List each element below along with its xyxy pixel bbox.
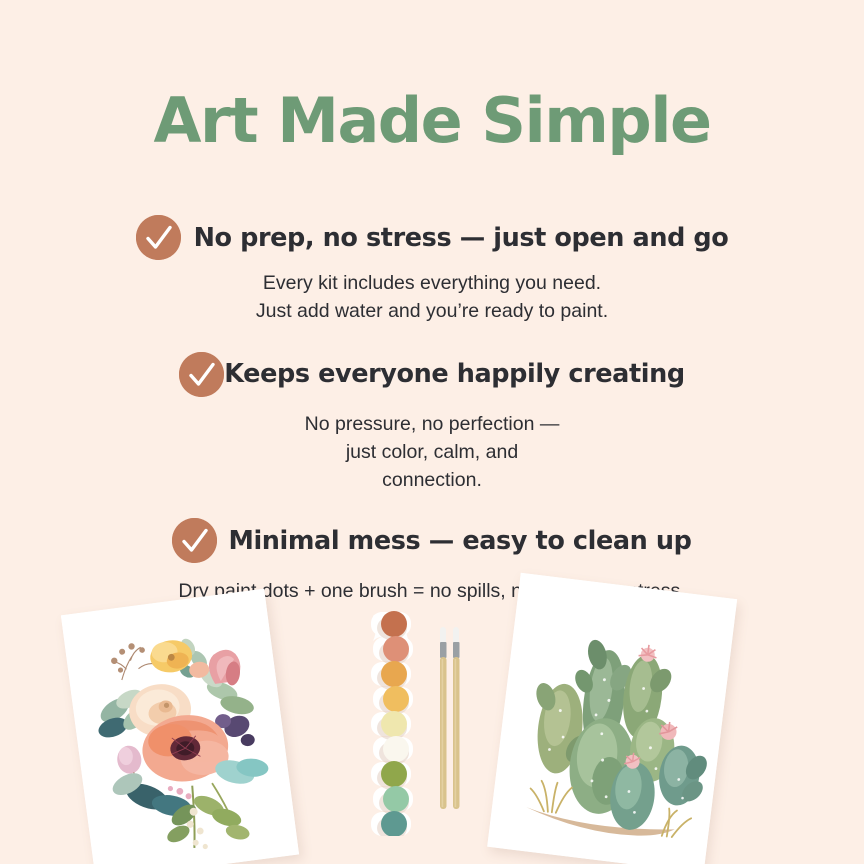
paint-brush bbox=[440, 627, 447, 809]
feature-description-line: Every kit includes everything you need. bbox=[0, 269, 864, 297]
feature-title: Keeps everyone happily creating bbox=[224, 359, 684, 389]
paint-dot bbox=[381, 611, 407, 637]
feature-title: No prep, no stress — just open and go bbox=[194, 223, 729, 253]
check-circle-icon bbox=[172, 518, 217, 563]
check-circle-icon bbox=[136, 215, 181, 260]
watercolor-cactus-card bbox=[487, 573, 737, 864]
product-imagery bbox=[0, 576, 864, 864]
paint-dot bbox=[383, 736, 409, 762]
page-title: Art Made Simple bbox=[0, 90, 864, 152]
paint-dot bbox=[381, 811, 407, 836]
feature-list: No prep, no stress — just open and go Ev… bbox=[0, 215, 864, 606]
feature-description-line: Just add water and you’re ready to paint… bbox=[0, 297, 864, 325]
feature-item: Keeps everyone happily creating No press… bbox=[0, 352, 864, 495]
watercolor-floral-bouquet-card bbox=[61, 589, 299, 864]
paint-dot bbox=[381, 761, 407, 787]
paint-dot bbox=[381, 661, 407, 687]
paint-dot bbox=[383, 636, 409, 662]
paint-dot-strip bbox=[368, 608, 422, 836]
feature-heading-row: No prep, no stress — just open and go bbox=[0, 215, 864, 260]
check-circle-icon bbox=[179, 352, 224, 397]
paint-brush bbox=[453, 627, 460, 809]
feature-item: No prep, no stress — just open and go Ev… bbox=[0, 215, 864, 326]
feature-description-line: No pressure, no perfection — bbox=[0, 410, 864, 438]
paint-brushes bbox=[430, 624, 472, 814]
feature-description-line: connection. bbox=[0, 466, 864, 494]
paint-dot bbox=[383, 786, 409, 812]
feature-description: No pressure, no perfection — just color,… bbox=[0, 410, 864, 495]
feature-description-line: just color, calm, and bbox=[0, 438, 864, 466]
paint-dot bbox=[383, 686, 409, 712]
feature-heading-row: Minimal mess — easy to clean up bbox=[0, 518, 864, 563]
paint-dot bbox=[381, 711, 407, 737]
feature-title: Minimal mess — easy to clean up bbox=[228, 526, 691, 556]
feature-heading-row: Keeps everyone happily creating bbox=[0, 352, 864, 397]
feature-description: Every kit includes everything you need. … bbox=[0, 269, 864, 326]
